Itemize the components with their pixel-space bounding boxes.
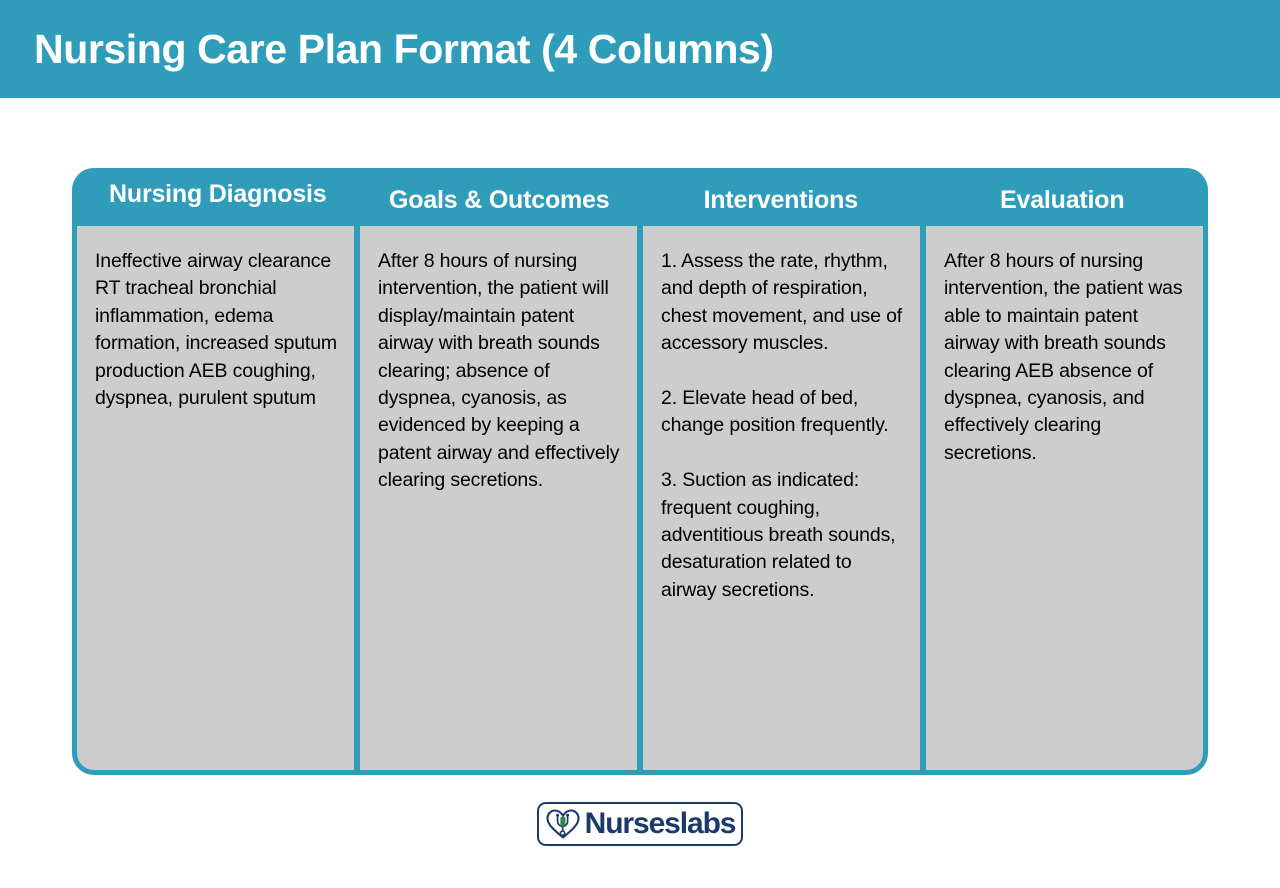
cell-nursing-diagnosis: Ineffective airway clearance RT tracheal… — [77, 226, 354, 770]
care-plan-table: Nursing Diagnosis Goals & Outcomes Inter… — [72, 168, 1208, 775]
stethoscope-heart-icon — [545, 808, 581, 840]
cell-goals-outcomes: After 8 hours of nursing intervention, t… — [360, 226, 637, 770]
cell-interventions-text: 1. Assess the rate, rhythm, and depth of… — [661, 248, 904, 604]
cell-interventions: 1. Assess the rate, rhythm, and depth of… — [643, 226, 920, 770]
column-header-goals-outcomes: Goals & Outcomes — [359, 168, 641, 226]
column-header-interventions: Interventions — [640, 168, 922, 226]
cell-nursing-diagnosis-text: Ineffective airway clearance RT tracheal… — [95, 248, 338, 412]
cell-evaluation-text: After 8 hours of nursing intervention, t… — [944, 248, 1187, 467]
table-body-row: Ineffective airway clearance RT tracheal… — [77, 226, 1203, 770]
page-banner: Nursing Care Plan Format (4 Columns) — [0, 0, 1280, 98]
table-header-row: Nursing Diagnosis Goals & Outcomes Inter… — [77, 168, 1203, 226]
column-header-evaluation: Evaluation — [922, 168, 1204, 226]
page-title: Nursing Care Plan Format (4 Columns) — [34, 29, 774, 70]
care-plan-page: Nursing Care Plan Format (4 Columns) Nur… — [0, 0, 1280, 888]
logo-brand-text: Nurseslabs — [585, 809, 736, 839]
column-header-nursing-diagnosis: Nursing Diagnosis — [77, 168, 359, 226]
cell-goals-outcomes-text: After 8 hours of nursing intervention, t… — [378, 248, 621, 495]
cell-evaluation: After 8 hours of nursing intervention, t… — [926, 226, 1203, 770]
nurseslabs-logo: Nurseslabs — [537, 802, 743, 846]
